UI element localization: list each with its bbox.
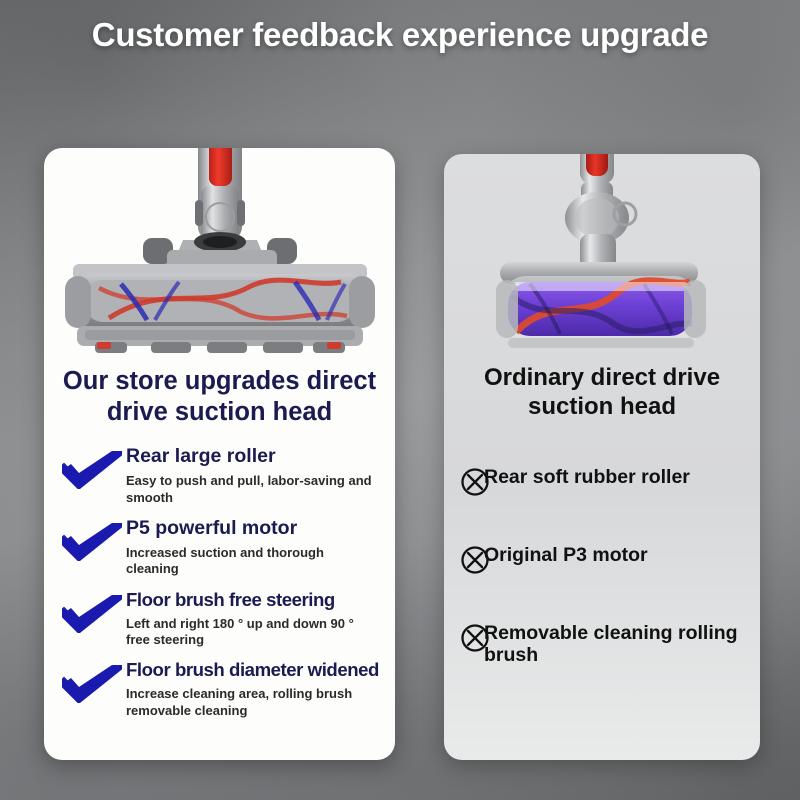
left-card-heading: Our store upgrades direct drive suction … — [44, 366, 395, 427]
feature-description: Easy to push and pull, labor-saving and … — [126, 473, 379, 506]
check-icon — [62, 523, 122, 566]
check-icon — [62, 595, 122, 638]
ordinary-product-card: Ordinary direct drive suction head Rear … — [444, 154, 760, 760]
feature-item: P5 powerful motor Increased suction and … — [62, 517, 379, 578]
feature-description: Increased suction and thorough cleaning — [126, 545, 379, 578]
ordinary-drawback-list: Rear soft rubber roller Original P3 moto… — [444, 466, 760, 667]
drawback-item: Original P3 motor — [460, 544, 748, 580]
page-title: Customer feedback experience upgrade — [0, 16, 800, 54]
check-icon — [62, 665, 122, 708]
drawback-label: Rear soft rubber roller — [484, 466, 748, 489]
feature-item: Rear large roller Easy to push and pull,… — [62, 445, 379, 506]
ordinary-suction-head-illustration — [468, 154, 736, 360]
drawback-item: Removable cleaning rolling brush — [460, 622, 748, 667]
check-icon — [62, 451, 122, 494]
upgraded-suction-head-illustration — [55, 148, 385, 362]
feature-title: P5 powerful motor — [126, 517, 297, 539]
feature-title: Floor brush free steering — [126, 589, 335, 610]
feature-description: Left and right 180 ° up and down 90 ° fr… — [126, 616, 379, 649]
upgraded-product-image — [44, 148, 395, 360]
feature-item: Floor brush diameter widened Increase cl… — [62, 659, 379, 719]
feature-description: Increase cleaning area, rolling brush re… — [126, 686, 379, 719]
ordinary-product-image — [444, 154, 760, 354]
upgraded-product-card: Our store upgrades direct drive suction … — [44, 148, 395, 760]
feature-item: Floor brush free steering Left and right… — [62, 589, 379, 649]
comparison-poster: Customer feedback experience upgrade — [0, 0, 800, 800]
drawback-label: Original P3 motor — [484, 544, 748, 567]
feature-title: Rear large roller — [126, 445, 276, 467]
drawback-item: Rear soft rubber roller — [460, 466, 748, 502]
upgraded-feature-list: Rear large roller Easy to push and pull,… — [44, 445, 395, 719]
drawback-label: Removable cleaning rolling brush — [484, 622, 748, 667]
feature-title: Floor brush diameter widened — [126, 659, 379, 680]
right-card-heading: Ordinary direct drive suction head — [444, 364, 760, 422]
